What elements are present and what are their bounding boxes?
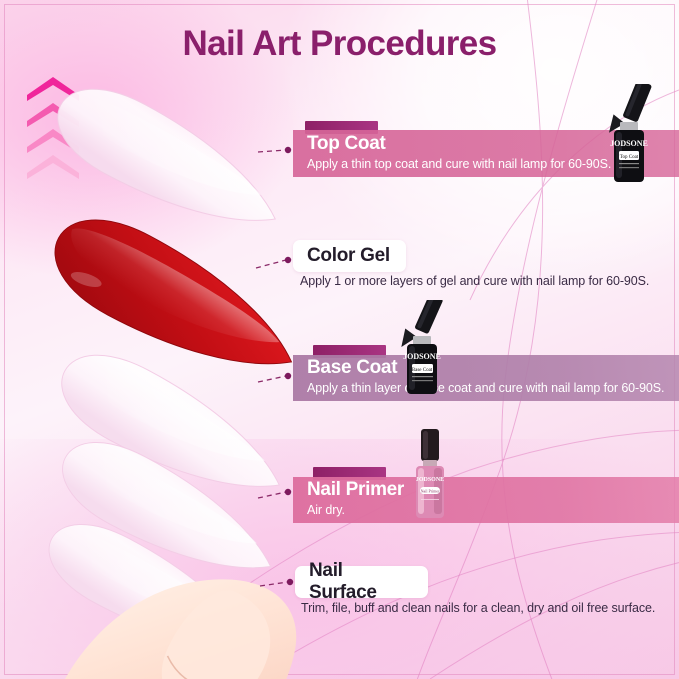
infographic-root: Nail Art Procedures: [0, 0, 679, 679]
step-title-base-coat: Base Coat: [307, 357, 679, 379]
chevron-up-icon-1: [26, 76, 80, 102]
bottle-label-base-coat: Base Coat: [412, 368, 433, 373]
step-pill-color-gel: Color Gel: [293, 240, 406, 272]
bottle-label-top-coat: Top Coat: [620, 155, 639, 160]
bottle-brand-top-coat: JODSONE: [610, 139, 648, 148]
bottle-top-coat: JODSONE Top Coat: [598, 84, 660, 190]
nail-primer: [48, 424, 289, 600]
connector-top-coat: [258, 150, 286, 152]
nail-base-coat: [46, 336, 298, 520]
chevron-up-icon-4: [26, 154, 80, 180]
step-desc-nail-surface: Trim, file, buff and clean nails for a c…: [301, 601, 671, 615]
chevron-up-icon-3: [26, 128, 80, 154]
connector-color-gel: [256, 260, 286, 268]
step-band-base-coat: Base Coat Apply a thin layer of base coa…: [293, 355, 679, 401]
connector-nail-primer: [258, 492, 286, 498]
connector-nail-surface: [260, 582, 288, 586]
step-pill-nail-surface: Nail Surface: [295, 566, 428, 598]
chevron-up-icon-2: [26, 102, 80, 128]
nail-surface: [35, 506, 270, 677]
bottle-base-coat: JODSONE Base Coat: [392, 300, 452, 400]
step-band-nail-primer: Nail Primer Air dry.: [293, 477, 679, 523]
bottle-brand-base-coat: JODSONE: [403, 352, 441, 361]
step-desc-color-gel: Apply 1 or more layers of gel and cure w…: [300, 274, 670, 288]
bottle-nail-primer: JODSONE Nail Primer: [404, 427, 456, 523]
up-arrow-stack: [26, 76, 82, 182]
bottle-brand-nail-primer: JODSONE: [416, 477, 444, 483]
finger-thumb: [25, 525, 321, 679]
step-title-nail-surface: Nail Surface: [309, 560, 414, 604]
step-desc-nail-primer: Air dry.: [307, 503, 679, 519]
step-title-color-gel: Color Gel: [307, 245, 390, 267]
page-title: Nail Art Procedures: [0, 24, 679, 64]
bottle-label-nail-primer: Nail Primer: [421, 489, 440, 494]
step-title-nail-primer: Nail Primer: [307, 479, 679, 501]
nail-color-gel: [37, 198, 312, 401]
connector-base-coat: [258, 376, 286, 382]
step-desc-base-coat: Apply a thin layer of base coat and cure…: [307, 381, 679, 397]
